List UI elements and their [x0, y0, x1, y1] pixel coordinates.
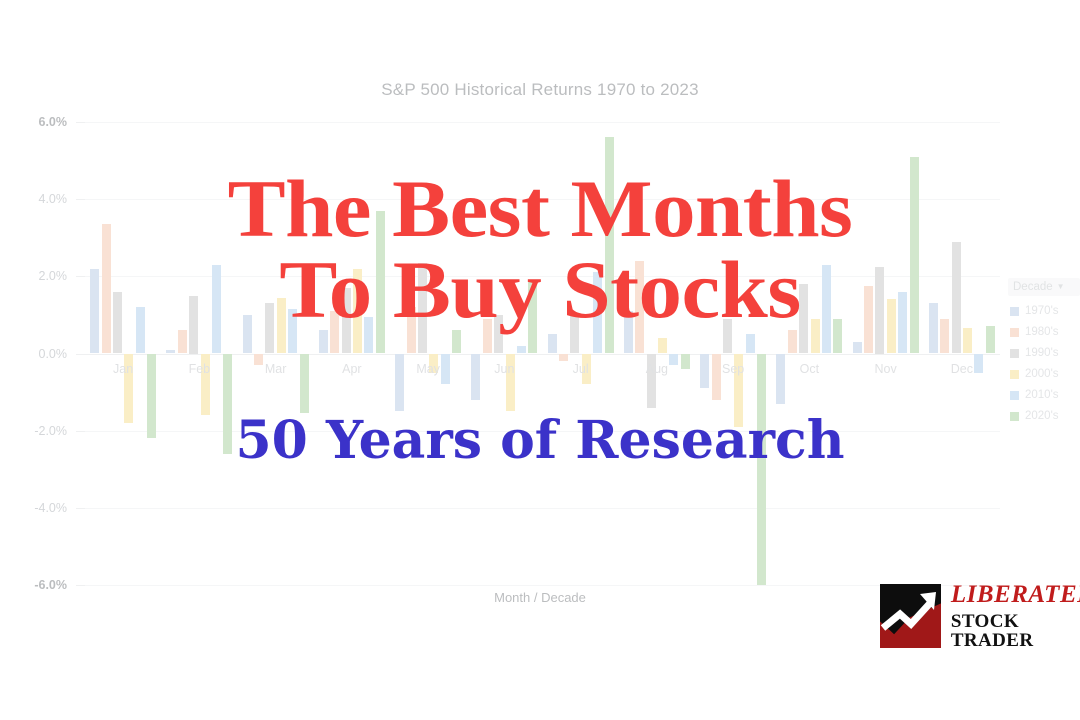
y-axis-tick-mark [76, 122, 85, 123]
x-axis-tick-label: Dec [924, 362, 1000, 376]
y-axis-tick-label: 6.0% [7, 115, 67, 129]
bar[interactable] [166, 350, 175, 354]
bar[interactable] [178, 330, 187, 353]
bar[interactable] [853, 342, 862, 354]
bar[interactable] [471, 354, 480, 400]
bar[interactable] [746, 334, 755, 353]
x-axis-tick-label: Jan [85, 362, 161, 376]
y-axis-tick-mark [76, 585, 85, 586]
x-axis-tick-label: Oct [771, 362, 847, 376]
legend-item[interactable]: 2000's [1010, 368, 1080, 380]
subheadline: 50 Years of Research [0, 415, 1080, 467]
y-axis-tick-mark [76, 354, 85, 355]
x-axis-tick-label: Jul [543, 362, 619, 376]
brand-logo[interactable]: LIBERATED STOCK TRADER [880, 582, 1080, 650]
x-axis-tick-label: Nov [848, 362, 924, 376]
x-axis-tick-label: Jun [466, 362, 542, 376]
gridline [85, 585, 1000, 586]
headline: The Best Months To Buy Stocks [0, 168, 1080, 330]
x-axis-tick-label: Mar [238, 362, 314, 376]
legend-item[interactable]: 1990's [1010, 347, 1080, 359]
bar[interactable] [559, 354, 568, 362]
legend-item-label: 1990's [1025, 347, 1059, 359]
legend-swatch-icon [1010, 349, 1019, 358]
headline-line-1: The Best Months [228, 163, 853, 254]
logo-tagline: STOCK TRADER [951, 612, 1080, 650]
chart-title: S&P 500 Historical Returns 1970 to 2023 [0, 80, 1080, 100]
legend-swatch-icon [1010, 391, 1019, 400]
y-axis-tick-label: 0.0% [7, 347, 67, 361]
logo-wordmark: LIBERATED STOCK TRADER [951, 582, 1080, 650]
bar[interactable] [963, 328, 972, 353]
legend-swatch-icon [1010, 370, 1019, 379]
logo-up-arrow-icon [880, 584, 941, 648]
y-axis-tick-mark [76, 508, 85, 509]
x-axis-tick-label: Aug [619, 362, 695, 376]
bar[interactable] [517, 346, 526, 354]
x-axis-tick-label: May [390, 362, 466, 376]
legend-item-label: 2010's [1025, 389, 1059, 401]
x-axis-tick-label: Apr [314, 362, 390, 376]
bar[interactable] [548, 334, 557, 353]
legend-item-label: 2000's [1025, 368, 1059, 380]
bar[interactable] [986, 326, 995, 353]
logo-chart-icon [880, 584, 941, 648]
x-axis-tick-label: Feb [161, 362, 237, 376]
infographic-canvas: S&P 500 Historical Returns 1970 to 2023 … [0, 0, 1080, 720]
y-axis-tick-label: -4.0% [7, 501, 67, 515]
x-axis-tick-label: Sep [695, 362, 771, 376]
legend-item[interactable]: 2010's [1010, 389, 1080, 401]
headline-line-2: To Buy Stocks [0, 249, 1080, 330]
bar[interactable] [658, 338, 667, 353]
bar[interactable] [712, 354, 721, 400]
logo-brand-name: LIBERATED [951, 582, 1080, 607]
